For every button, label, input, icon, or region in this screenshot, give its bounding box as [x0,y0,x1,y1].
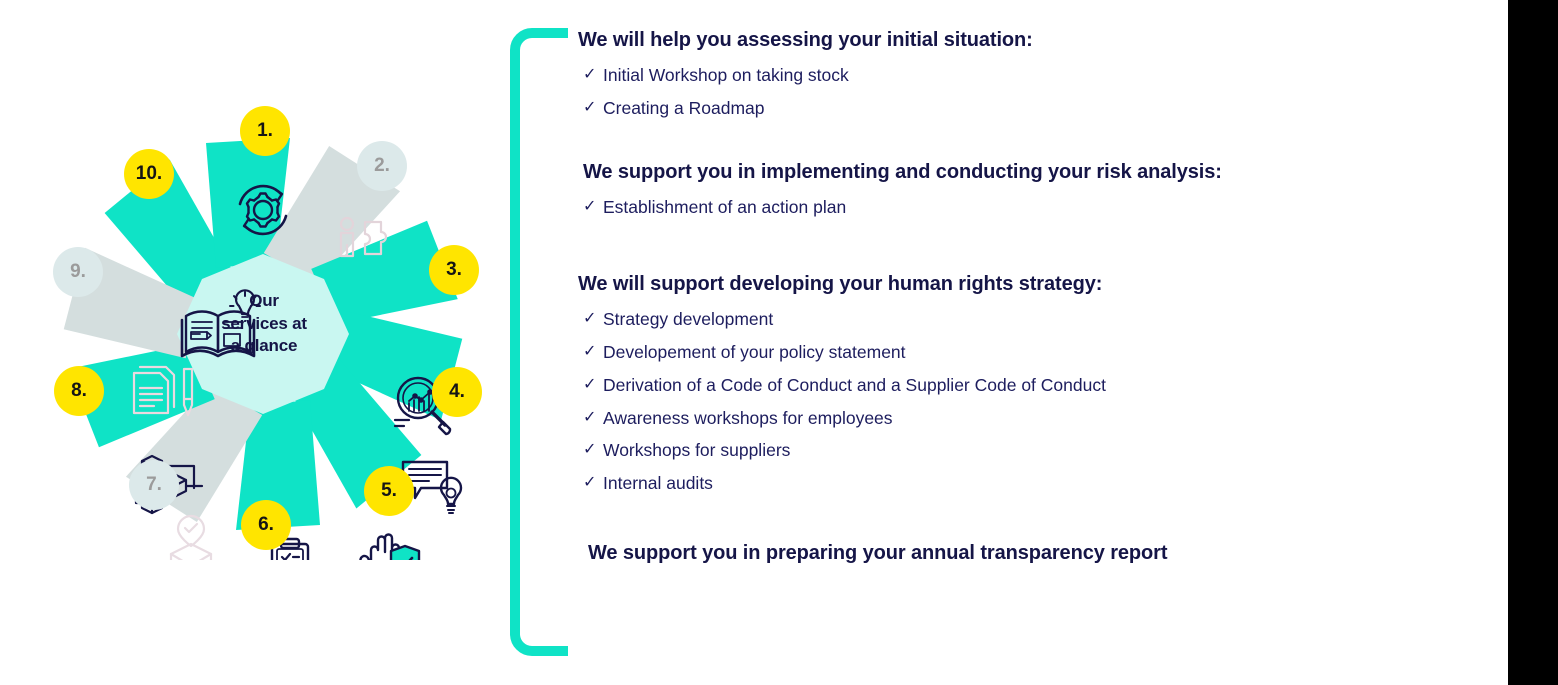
wheel-badge-2[interactable]: 2. [357,141,407,191]
section-bullet-list: ✓ Strategy development ✓ Developement of… [578,308,1388,495]
section-spacer [578,228,1388,272]
hand-shield-icon [360,535,419,561]
list-item: ✓ Strategy development [578,308,1388,331]
section-initial-situation: We will help you assessing your initial … [578,28,1388,120]
list-item: ✓ Establishment of an action plan [578,196,1388,219]
check-icon: ✓ [583,308,603,330]
hub-line-3: a glance [196,335,332,358]
wheel-badge-3[interactable]: 3. [429,245,479,295]
check-icon: ✓ [583,64,603,86]
services-detail-panel: We will help you assessing your initial … [510,28,1390,658]
section-heading: We will help you assessing your initial … [578,28,1388,52]
list-item: ✓ Derivation of a Code of Conduct and a … [578,374,1388,397]
list-item-label: Internal audits [603,472,1388,495]
list-item-label: Derivation of a Code of Conduct and a Su… [603,374,1388,397]
wheel-badge-1[interactable]: 1. [240,106,290,156]
hub-line-2: services at [196,313,332,336]
list-item-label: Developement of your policy statement [603,341,1388,364]
list-item: ✓ Internal audits [578,472,1388,495]
envelope-check-icon [171,516,211,560]
check-icon: ✓ [583,374,603,396]
section-risk-analysis: We support you in implementing and condu… [578,160,1388,219]
wheel-badge-6[interactable]: 6. [241,500,291,550]
wheel-badge-8[interactable]: 8. [54,366,104,416]
section-spacer [578,505,1388,541]
list-item: ✓ Creating a Roadmap [578,97,1388,120]
list-item: ✓ Workshops for suppliers [578,439,1388,462]
wheel-badge-10[interactable]: 10. [124,149,174,199]
section-bullet-list: ✓ Establishment of an action plan [578,196,1388,219]
check-icon: ✓ [583,97,603,119]
list-item-label: Establishment of an action plan [603,196,1388,219]
teal-bracket-icon [510,28,570,656]
section-human-rights-strategy: We will support developing your human ri… [578,272,1388,495]
sections-container: We will help you assessing your initial … [578,28,1388,577]
wheel-hub-label: Our services at a glance [196,290,332,358]
section-heading: We support you in implementing and condu… [578,160,1388,184]
check-icon: ✓ [583,407,603,429]
right-black-gutter [1508,0,1558,685]
section-spacer [578,130,1388,160]
list-item-label: Initial Workshop on taking stock [603,64,1388,87]
list-item-label: Workshops for suppliers [603,439,1388,462]
list-item: ✓ Initial Workshop on taking stock [578,64,1388,87]
wheel-badge-5[interactable]: 5. [364,466,414,516]
section-transparency-report: We support you in preparing your annual … [578,541,1388,565]
list-item-label: Creating a Roadmap [603,97,1388,120]
list-item: ✓ Awareness workshops for employees [578,407,1388,430]
check-icon: ✓ [583,472,603,494]
services-wheel-diagram: Our services at a glance 1. 2. 3. 4. 5. … [28,108,498,560]
wheel-badge-7[interactable]: 7. [129,460,179,510]
check-icon: ✓ [583,196,603,218]
section-bullet-list: ✓ Initial Workshop on taking stock ✓ Cre… [578,64,1388,120]
check-icon: ✓ [583,341,603,363]
section-heading: We will support developing your human ri… [578,272,1388,296]
list-item: ✓ Developement of your policy statement [578,341,1388,364]
list-item-label: Strategy development [603,308,1388,331]
hub-line-1: Our [196,290,332,313]
list-item-label: Awareness workshops for employees [603,407,1388,430]
wheel-badge-9[interactable]: 9. [53,247,103,297]
section-heading: We support you in preparing your annual … [578,541,1388,565]
wheel-badge-4[interactable]: 4. [432,367,482,417]
check-icon: ✓ [583,439,603,461]
